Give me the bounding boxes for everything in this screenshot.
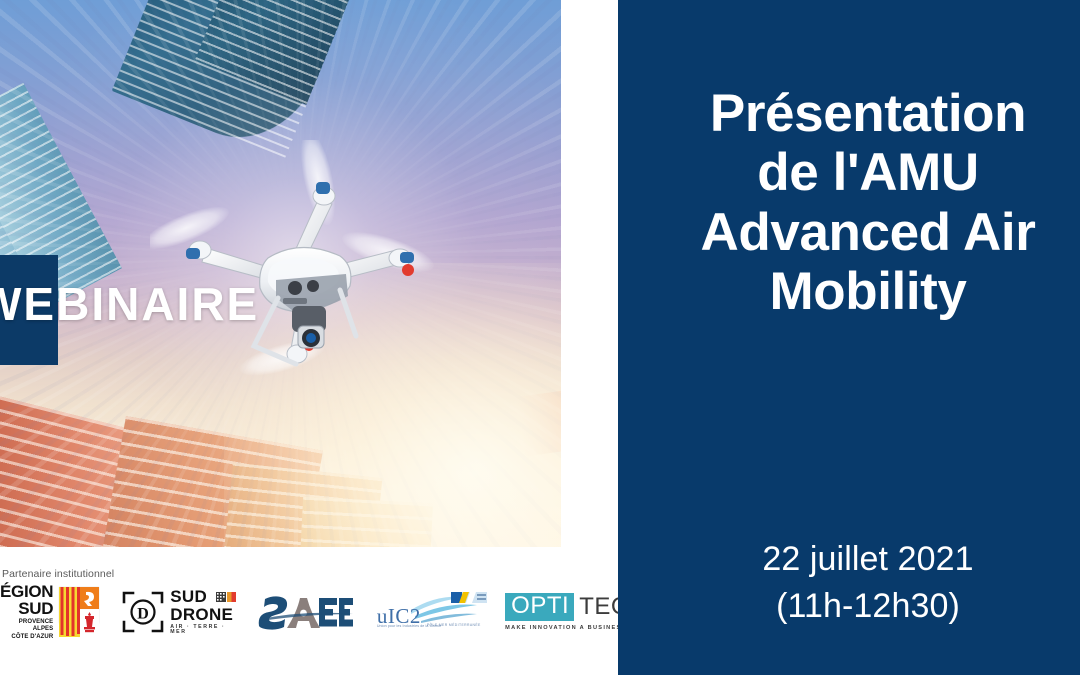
partner-logos: RÉGION SUD PROVENCE ALPES CÔTE D'AZUR — [0, 583, 618, 641]
page-title: Présentation de l'AMU Advanced Air Mobil… — [618, 84, 1080, 321]
region-sud-sub2: ALPES — [0, 626, 53, 634]
logo-uic2: uIC2 Union pour les Industries de la Chi… — [375, 590, 487, 634]
region-sud-shield-icon — [58, 586, 100, 638]
logo-sud-drone: D SUD — [122, 588, 239, 635]
region-sud-line2: SUD — [0, 600, 53, 617]
svg-text:D: D — [137, 606, 149, 623]
sud-drone-flag-icon — [216, 588, 236, 605]
partner-label: Partenaire institutionnel — [2, 568, 114, 580]
title-line-4: Mobility — [618, 262, 1080, 321]
logo-optitec: OPTI TEC MAKE INNOVATION A BUSINESS — [505, 593, 618, 631]
logo-region-sud: RÉGION SUD PROVENCE ALPES CÔTE D'AZUR — [0, 583, 100, 642]
sud-drone-mark-icon: D — [122, 591, 164, 633]
title-line-1: Présentation — [618, 84, 1080, 143]
title-line-2: de l'AMU — [618, 143, 1080, 202]
event-date: 22 juillet 2021 (11h-12h30) — [618, 536, 1080, 630]
region-sud-sub3: CÔTE D'AZUR — [0, 634, 53, 642]
drone-photo — [0, 0, 561, 547]
right-navy-panel: Présentation de l'AMU Advanced Air Mobil… — [618, 0, 1080, 675]
optitec-tagline: MAKE INNOVATION A BUSINESS — [505, 625, 618, 631]
sud-drone-sub: AIR · TERRE · MER — [170, 625, 239, 636]
webinaire-label: WEBINAIRE — [0, 281, 259, 327]
uic2-sub2: PÔLE MER MÉDITERRANÉE — [427, 623, 481, 627]
optitec-part1: OPTI — [505, 593, 574, 621]
sud-drone-line1: SUD — [170, 587, 207, 606]
date-line-1: 22 juillet 2021 — [618, 536, 1080, 583]
logo-safe — [257, 592, 355, 632]
sud-drone-line2: DRONE — [170, 606, 239, 623]
date-line-2: (11h-12h30) — [618, 583, 1080, 630]
region-sud-line1: RÉGION — [0, 583, 53, 600]
optitec-part2: TEC — [574, 595, 618, 619]
region-sud-sub1: PROVENCE — [0, 619, 53, 627]
webinar-banner: WEBINAIRE Partenaire institutionnel RÉGI… — [0, 0, 1080, 675]
title-line-3: Advanced Air — [618, 203, 1080, 262]
left-pane: WEBINAIRE Partenaire institutionnel RÉGI… — [0, 0, 618, 675]
uic2-flag-icon — [451, 590, 487, 601]
